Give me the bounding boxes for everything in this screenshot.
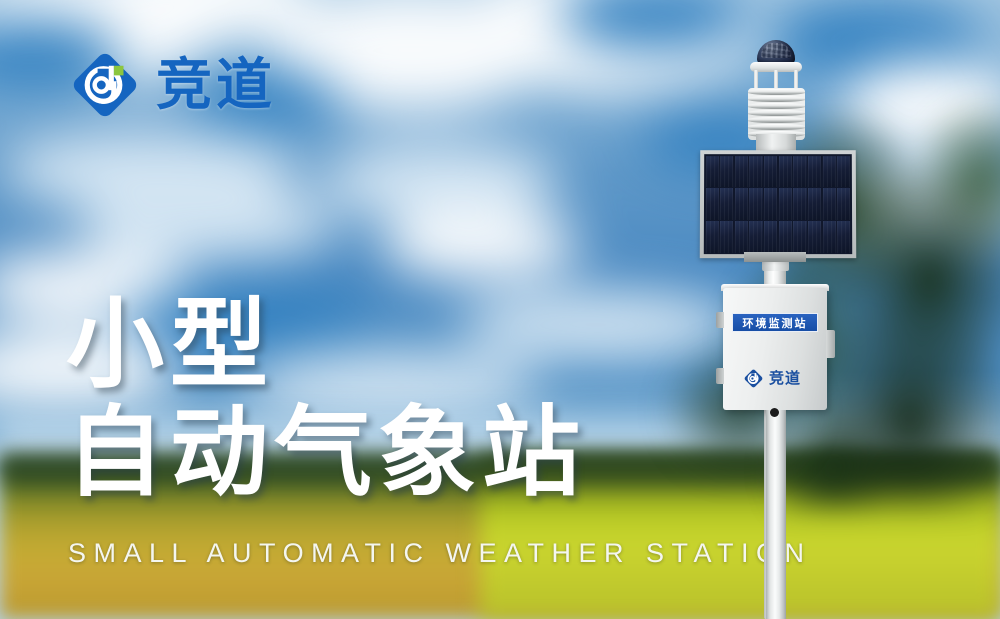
subtitle: SMALL AUTOMATIC WEATHER STATION bbox=[68, 538, 812, 569]
brand-logo: 竞道 bbox=[68, 48, 276, 122]
page-title: 小型 自动气象站 bbox=[66, 296, 586, 500]
title-line-2: 自动气象站 bbox=[66, 404, 586, 500]
brand-name: 竞道 bbox=[156, 57, 276, 113]
hero-banner: 竞道 小型 自动气象站 SMALL AUTOMATIC WEATHER STAT… bbox=[0, 0, 1000, 619]
jingdao-diamond-logo-icon bbox=[68, 48, 142, 122]
tree-foliage-secondary bbox=[630, 300, 850, 520]
title-line-1: 小型 bbox=[66, 296, 586, 392]
